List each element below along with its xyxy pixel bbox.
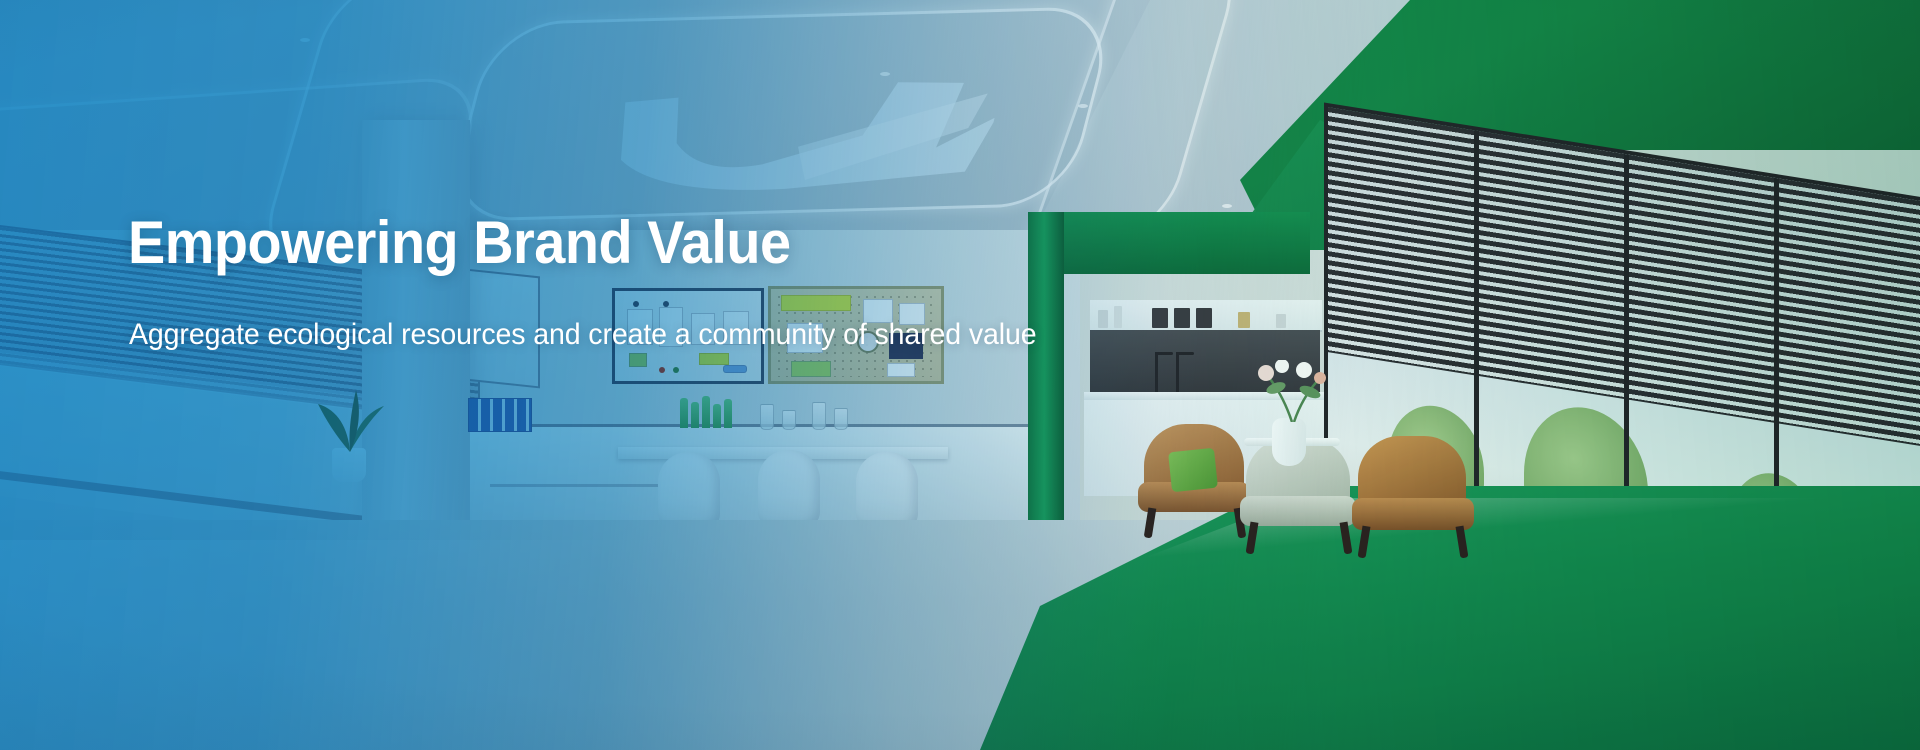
hero-subtitle: Aggregate ecological resources and creat… — [129, 315, 1037, 356]
hero-banner: Empowering Brand Value Aggregate ecologi… — [0, 0, 1920, 750]
hero-content: Empowering Brand Value Aggregate ecologi… — [0, 0, 1920, 750]
hero-headline: Empowering Brand Value — [128, 207, 791, 279]
